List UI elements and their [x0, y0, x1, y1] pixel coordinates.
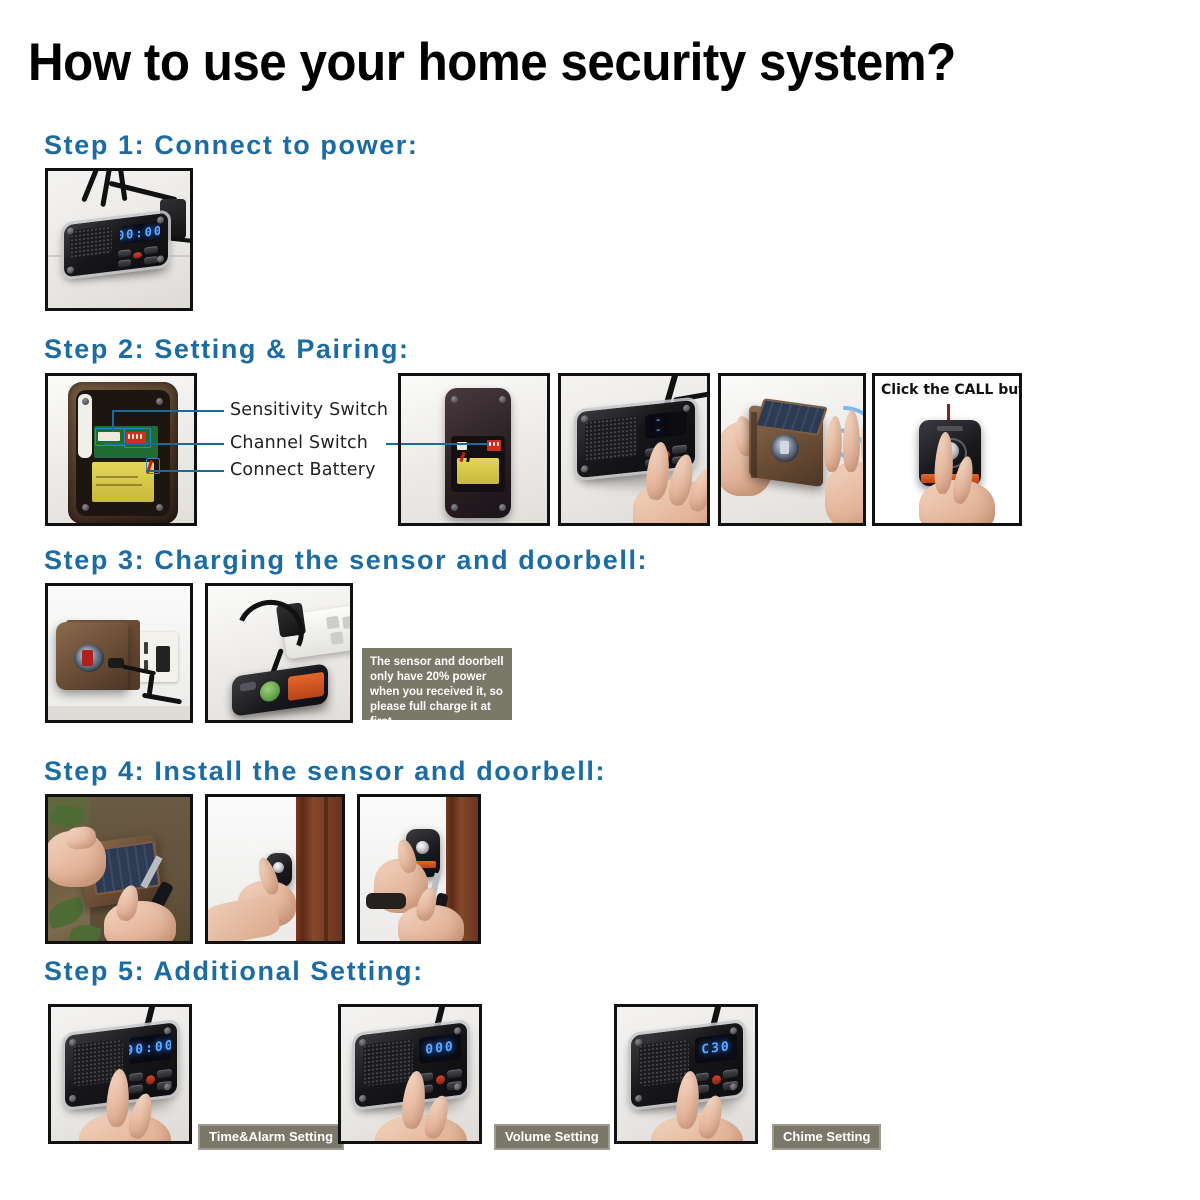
photo-sensor-charging-outlet [45, 583, 193, 723]
step-5-heading: Step 5: Additional Setting: [44, 956, 424, 986]
receiver-display-chime: C30 [701, 1039, 730, 1058]
caption-click-call-button: Click the CALL button [881, 382, 1019, 398]
leader-battery [146, 470, 224, 472]
step-4-heading: Step 4: Install the sensor and doorbell: [44, 756, 606, 786]
callout-sensitivity-switch: Sensitivity Switch [230, 400, 388, 420]
callout-channel-switch: Channel Switch [230, 433, 368, 453]
note-charge-warning: The sensor and doorbell only have 20% po… [362, 648, 512, 720]
callout-connect-battery: Connect Battery [230, 460, 376, 480]
photo-volume-setting: 000 [338, 1004, 482, 1144]
receiver-display-volume: 000 [425, 1039, 454, 1058]
leader-sensitivity-drop [112, 410, 114, 432]
photo-receiver-press-button: - - - - [558, 373, 710, 526]
tag-chime-setting: Chime Setting [772, 1124, 881, 1150]
tag-time-alarm-setting: Time&Alarm Setting [198, 1124, 344, 1150]
photo-doorbell-back-battery [398, 373, 550, 526]
infographic-page: How to use your home security system? St… [0, 0, 1200, 1200]
photo-sensor-opened-board [45, 373, 197, 526]
tag-volume-setting: Volume Setting [494, 1124, 610, 1150]
step-3-heading: Step 3: Charging the sensor and doorbell… [44, 545, 648, 575]
photo-receiver-plugged-in: 00:00 [45, 168, 193, 311]
photo-sensor-motion-test [718, 373, 866, 526]
photo-chime-setting: C30 [614, 1004, 758, 1144]
photo-screw-doorbell [357, 794, 481, 944]
photo-doorbell-charging-strip [205, 583, 353, 723]
receiver-display-time: 90:00 [129, 1038, 171, 1059]
photo-time-alarm-setting: 90:00 [48, 1004, 192, 1144]
step-2-heading: Step 2: Setting & Pairing: [44, 334, 410, 364]
page-title: How to use your home security system? [28, 34, 956, 92]
photo-mount-sensor-outdoors [45, 794, 193, 944]
step-1-heading: Step 1: Connect to power: [44, 130, 419, 160]
leader-sensitivity [112, 410, 224, 412]
photo-doorbell-call-press: Click the CALL button [872, 373, 1022, 526]
leader-channel [104, 443, 224, 445]
receiver-display-step1: 00:00 [120, 223, 160, 243]
photo-position-doorbell [205, 794, 345, 944]
